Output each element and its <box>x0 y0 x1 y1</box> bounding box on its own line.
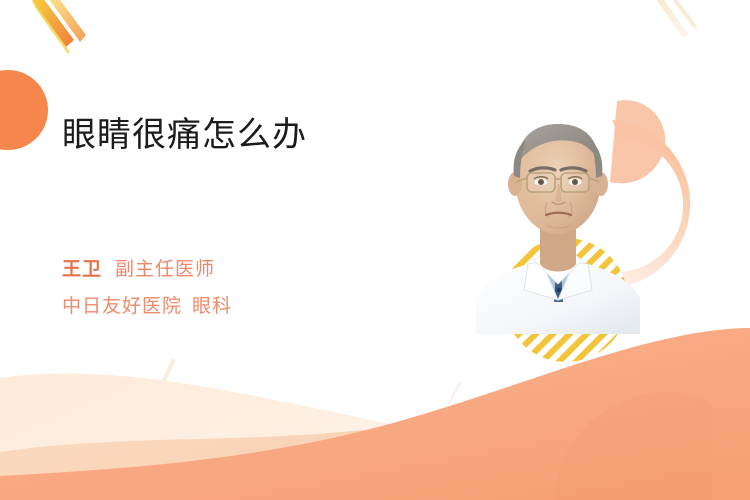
doctor-affiliation-line: 中日友好医院眼科 <box>62 292 452 322</box>
doctor-title: 副主任医师 <box>115 259 215 280</box>
health-content-card: 眼睛很痛怎么办 王卫副主任医师 中日友好医院眼科 <box>0 0 750 500</box>
doctor-department: 眼科 <box>192 296 232 317</box>
doctor-name-line: 王卫副主任医师 <box>62 255 452 285</box>
doctor-name: 王卫 <box>62 259 102 280</box>
page-title: 眼睛很痛怎么办 <box>62 112 452 158</box>
doctor-hospital: 中日友好医院 <box>62 296 182 317</box>
text-content: 眼睛很痛怎么办 王卫副主任医师 中日友好医院眼科 <box>62 112 452 322</box>
